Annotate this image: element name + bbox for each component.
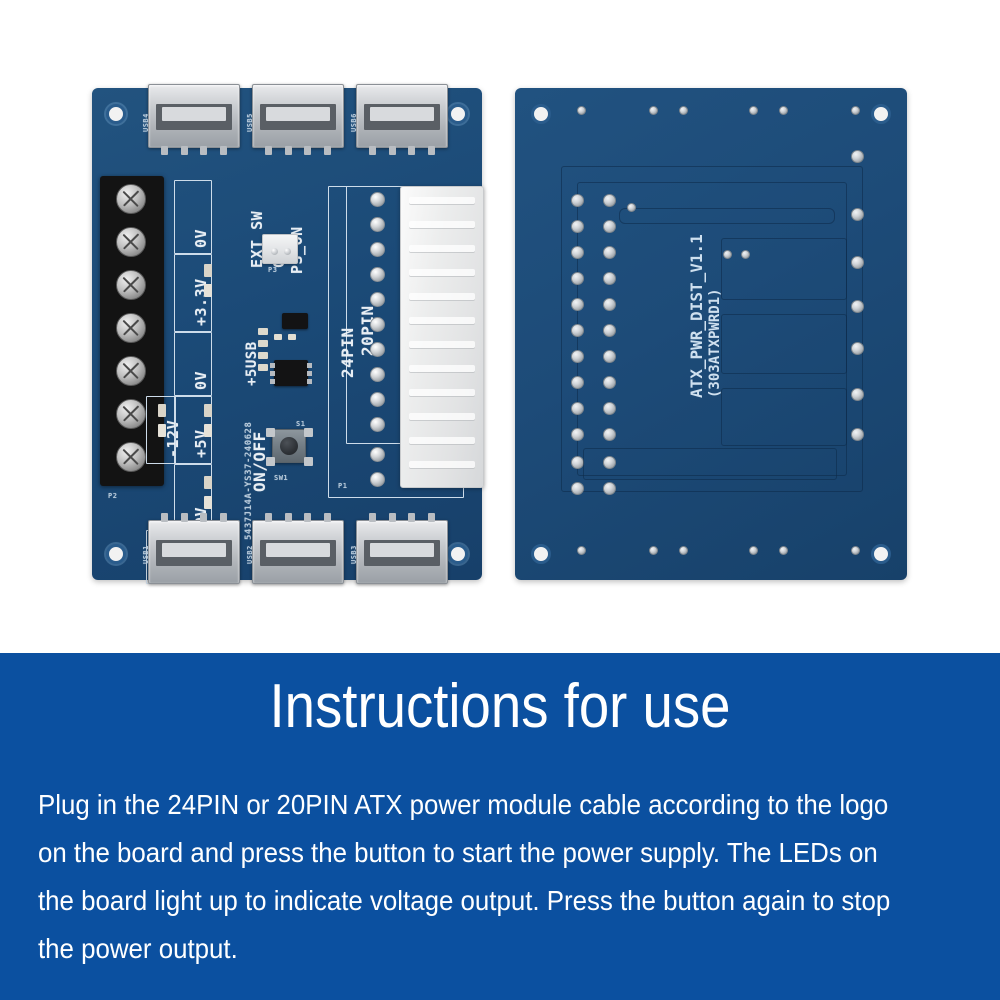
- terminal-solder-pad: [851, 300, 864, 313]
- test-pad: [741, 250, 750, 259]
- atx-header-ref: P1: [338, 482, 347, 490]
- button-ref-sw1: SW1: [274, 474, 288, 482]
- silk-divider: [174, 324, 210, 325]
- mounting-hole: [448, 544, 468, 564]
- resistor: [204, 284, 212, 297]
- solder-pad: [577, 106, 586, 115]
- mounting-hole: [871, 544, 891, 564]
- solder-pad: [649, 546, 658, 555]
- usb-port-usb6: [356, 84, 448, 148]
- mounting-hole: [871, 104, 891, 124]
- usb-port-usb5: [252, 84, 344, 148]
- ext-switch-header[interactable]: [262, 234, 298, 264]
- pcb-trace: [721, 314, 847, 374]
- power-button[interactable]: [272, 429, 306, 463]
- terminal-label-0v-a: 0V: [192, 229, 210, 248]
- led-indicator: [204, 404, 212, 417]
- test-pad: [723, 250, 732, 259]
- label-24pin: 24PIN: [338, 327, 357, 378]
- usb-label-usb2: USB2: [246, 545, 254, 564]
- solder-pad: [649, 106, 658, 115]
- pcb-trace: [721, 388, 847, 446]
- smd-resistor: [274, 334, 282, 340]
- atx-24pin-connector[interactable]: [400, 186, 484, 488]
- mounting-hole: [106, 544, 126, 564]
- usb-label-usb6: USB6: [350, 113, 358, 132]
- terminal-solder-pad: [851, 428, 864, 441]
- transistor-sot23: [282, 313, 308, 329]
- button-ref-s1: S1: [296, 420, 305, 428]
- mounting-hole: [531, 544, 551, 564]
- smd-resistor: [258, 352, 268, 359]
- solder-pad: [679, 106, 688, 115]
- terminal-label-0v-b: 0V: [192, 371, 210, 390]
- product-info-page: USB4 USB5 USB6 P2: [0, 0, 1000, 1000]
- led-indicator: [204, 476, 212, 489]
- pcb-trace: [619, 208, 835, 224]
- usb-label-usb5: USB5: [246, 113, 254, 132]
- pcb-back-view: ATX_PWR_DIST_V1.1 (303ATXPWRD1): [515, 88, 907, 580]
- pcb-trace: [721, 238, 847, 300]
- terminal-solder-pad: [851, 342, 864, 355]
- usb-port-usb3: [356, 520, 448, 584]
- instructions-body: Plug in the 24PIN or 20PIN ATX power mod…: [38, 781, 910, 973]
- solder-pad: [749, 546, 758, 555]
- mounting-hole: [531, 104, 551, 124]
- mounting-hole: [106, 104, 126, 124]
- solder-pad: [779, 106, 788, 115]
- instructions-banner: Instructions for use Plug in the 24PIN o…: [0, 653, 1000, 1000]
- resistor: [204, 424, 212, 437]
- solder-pad: [577, 546, 586, 555]
- terminal-solder-pad: [851, 256, 864, 269]
- solder-pad: [749, 106, 758, 115]
- usb-label-usb1: USB1: [142, 545, 150, 564]
- product-photo-area: USB4 USB5 USB6 P2: [0, 0, 1000, 653]
- pcb-front-view: USB4 USB5 USB6 P2: [92, 88, 482, 580]
- led-indicator: [158, 404, 166, 417]
- terminal-solder-pad: [851, 150, 864, 163]
- pcb-trace: [583, 448, 837, 480]
- smd-capacitor: [258, 328, 268, 335]
- terminal-solder-pad: [851, 388, 864, 401]
- back-silkscreen-partnumber: (303ATXPWRD1): [707, 288, 723, 398]
- test-pad: [627, 203, 636, 212]
- solder-pad: [779, 546, 788, 555]
- usb-label-usb3: USB3: [350, 545, 358, 564]
- mounting-hole: [448, 104, 468, 124]
- usb-port-usb1: [148, 520, 240, 584]
- solder-pad: [851, 106, 860, 115]
- led-indicator: [204, 264, 212, 277]
- terminal-solder-pad: [851, 208, 864, 221]
- smd-resistor: [288, 334, 296, 340]
- solder-pad: [851, 546, 860, 555]
- smd-resistor: [258, 364, 268, 371]
- header-ref-p3: P3: [268, 266, 277, 274]
- usb-port-usb4: [148, 84, 240, 148]
- smd-capacitor: [258, 340, 268, 347]
- instructions-title: Instructions for use: [60, 671, 940, 742]
- resistor: [204, 496, 212, 509]
- regulator-ic: [274, 360, 308, 386]
- solder-pad: [679, 546, 688, 555]
- usb-label-usb4: USB4: [142, 113, 150, 132]
- back-silkscreen-version: ATX_PWR_DIST_V1.1: [687, 234, 706, 398]
- usb-port-usb2: [252, 520, 344, 584]
- terminal-block-ref: P2: [108, 492, 117, 500]
- resistor: [158, 424, 166, 437]
